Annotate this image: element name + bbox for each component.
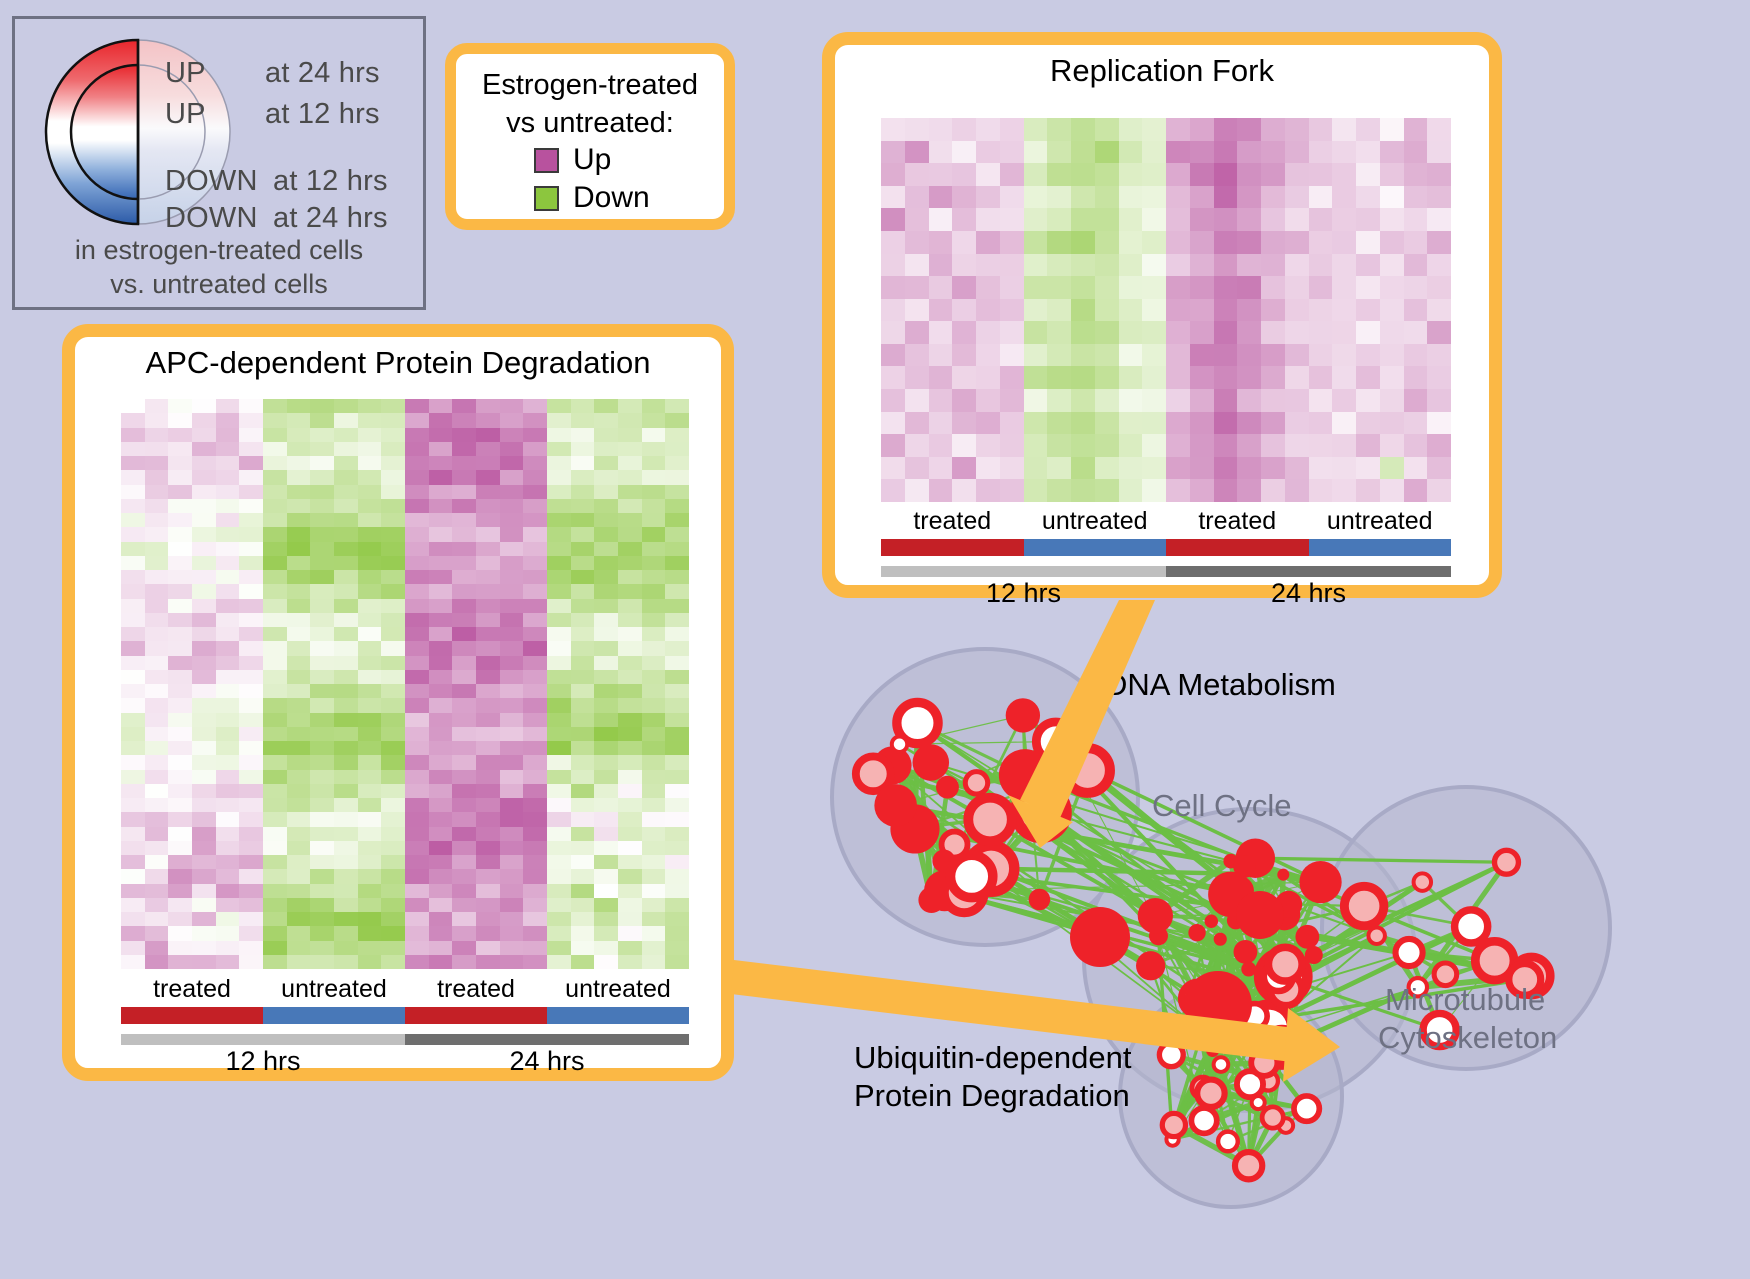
heatmap-cell [216,641,240,655]
heatmap-cell [500,399,524,413]
heatmap-cell [905,344,929,367]
heatmap-cell [405,926,429,940]
heatmap-cell [1024,276,1048,299]
heatmap-cell [1071,366,1095,389]
heatmap-cell [452,641,476,655]
heatmap-cell [452,670,476,684]
heatmap-cell [523,641,547,655]
heatmap-cell [239,527,263,541]
heatmap-cell [547,470,571,484]
heatmap-cell [192,798,216,812]
heatmap-cell [429,556,453,570]
heatmap-cell [594,442,618,456]
heatmap-cell [523,442,547,456]
network-node [1294,1096,1319,1121]
heatmap-cell [1356,479,1380,502]
heatmap-cell [381,941,405,955]
heatmap-cell [1071,276,1095,299]
heatmap-cell [192,527,216,541]
heatmap-cell [452,499,476,513]
heatmap-cell [216,684,240,698]
heatmap-cell [239,727,263,741]
heatmap-cell [263,713,287,727]
heatmap-cell [665,684,689,698]
heatmap-cell [1024,457,1048,480]
heatmap-cell [239,684,263,698]
heatmap-cell [1309,321,1333,344]
heatmap-cell [381,428,405,442]
heatmap-cell [358,855,382,869]
panel-replication-fork: Replication Fork treated untreated treat… [822,32,1502,598]
heatmap-cell [571,926,595,940]
heatmap-cell [216,542,240,556]
heatmap-cell [476,855,500,869]
heatmap-cell [1332,208,1356,231]
heatmap-cell [145,413,169,427]
heatmap-cell [665,869,689,883]
heatmap-cell [1332,299,1356,322]
heatmap-cell [1047,412,1071,435]
heatmap-cell [665,413,689,427]
heatmap-cell [1166,163,1190,186]
heatmap-cell [905,254,929,277]
ring-key-up-12-time: at 12 hrs [265,98,380,131]
network-node [1268,947,1302,981]
heatmap-cell [952,118,976,141]
heatmap-cell [287,584,311,598]
heatmap-cell [121,613,145,627]
heatmap-cell [405,556,429,570]
time-label-12hrs: 12 hrs [881,578,1166,609]
heatmap-cell [547,656,571,670]
heatmap-cell [1404,457,1428,480]
heatmap-cell [476,784,500,798]
heatmap-cell [358,442,382,456]
heatmap-cell [405,456,429,470]
heatmap-cell [263,784,287,798]
heatmap-cell [642,656,666,670]
heatmap-cell [168,570,192,584]
heatmap-cell [618,442,642,456]
heatmap-cell [168,442,192,456]
heatmap-cell [429,499,453,513]
heatmap-cell [1214,434,1238,457]
heatmap-cell [145,641,169,655]
heatmap-cell [665,955,689,969]
heatmap-cell [642,470,666,484]
heatmap-cell [476,698,500,712]
heatmap-cell [121,684,145,698]
heatmap-cell [239,413,263,427]
heatmap-cell [571,955,595,969]
heatmap-cell [263,470,287,484]
heatmap-cell [476,542,500,556]
heatmap-cell [121,698,145,712]
heatmap-cell [1095,141,1119,164]
heatmap-cell [1047,163,1071,186]
heatmap-cell [405,955,429,969]
heatmap-cell [523,770,547,784]
condition-bar-treated [405,1007,547,1024]
heatmap-cell [665,926,689,940]
heatmap-cell [665,770,689,784]
heatmap-cell [1000,231,1024,254]
time-bar-24hrs [405,1034,689,1045]
heatmap-cell [500,898,524,912]
heatmap-cell [310,442,334,456]
heatmap-cell [618,741,642,755]
heatmap-cell [263,684,287,698]
down-label: Down [573,181,650,215]
heatmap-cell [665,798,689,812]
heatmap-cell [334,641,358,655]
heatmap-cell [192,428,216,442]
heatmap-cell [263,841,287,855]
heatmap-cell [145,499,169,513]
heatmap-cell [1024,208,1048,231]
heatmap-cell [121,784,145,798]
heatmap-cell [381,499,405,513]
heatmap-cell [429,627,453,641]
heatmap-cell [310,926,334,940]
heatmap-cell [381,827,405,841]
heatmap-cell [1095,163,1119,186]
heatmap-cell [547,926,571,940]
ring-key-caption-line2: vs. untreated cells [15,267,423,301]
heatmap-cell [523,542,547,556]
heatmap-cell [523,399,547,413]
heatmap-cell [1142,412,1166,435]
heatmap-cell [287,428,311,442]
heatmap-cell [239,428,263,442]
heatmap-cell [405,613,429,627]
time-bar-12hrs [121,1034,405,1045]
heatmap-cell [168,542,192,556]
heatmap-cell [1237,208,1261,231]
heatmap-cell [192,570,216,584]
heatmap-cell [145,784,169,798]
heatmap-cell [168,513,192,527]
heatmap-cell [1261,186,1285,209]
heatmap-cell [500,428,524,442]
heatmap-cell [310,542,334,556]
heatmap-cell [381,884,405,898]
heatmap-cell [1332,344,1356,367]
heatmap-cell [145,798,169,812]
heatmap-cell [452,855,476,869]
heatmap-cell [523,869,547,883]
heatmap-cell [310,784,334,798]
heatmap-cell [334,898,358,912]
heatmap-cell [594,941,618,955]
heatmap-cell [1404,163,1428,186]
heatmap-cell [429,884,453,898]
heatmap-cell [216,456,240,470]
heatmap-cell [500,755,524,769]
heatmap-cell [1356,389,1380,412]
heatmap-cell [287,499,311,513]
up-label: Up [573,143,611,177]
heatmap-cell [263,812,287,826]
heatmap-cell [168,898,192,912]
network-node [1184,971,1252,1039]
heatmap-cell [192,399,216,413]
heatmap-cell [476,741,500,755]
heatmap-cell [1000,434,1024,457]
heatmap-cell [429,741,453,755]
heatmap-cell [476,656,500,670]
heatmap-cell [429,727,453,741]
heatmap-cell [1404,208,1428,231]
heatmap-cell [1261,208,1285,231]
heatmap-cell [594,898,618,912]
heatmap-cell [905,321,929,344]
heatmap-cell [239,941,263,955]
heatmap-cell [358,698,382,712]
heatmap-cell [1190,208,1214,231]
heatmap-cell [1332,163,1356,186]
heatmap-cell [405,741,429,755]
heatmap-cell [216,399,240,413]
heatmap-cell [145,955,169,969]
heatmap-cell [881,186,905,209]
heatmap-cell [310,841,334,855]
heatmap-cell [1071,457,1095,480]
heatmap-cell [1166,299,1190,322]
heatmap-cell [145,884,169,898]
heatmap-cell [239,627,263,641]
heatmap-cell [594,770,618,784]
cluster-label-dna-metabolism: DNA Metabolism [1105,667,1336,703]
heatmap-cell [1427,412,1451,435]
heatmap-cell [381,613,405,627]
heatmap-cell [452,570,476,584]
heatmap-cell [452,727,476,741]
heatmap-cell [976,344,1000,367]
heatmap-cell [476,442,500,456]
heatmap-cell [618,812,642,826]
heatmap-cell [929,321,953,344]
heatmap-cell [547,584,571,598]
heatmap-cell [1166,479,1190,502]
heatmap-cell [452,713,476,727]
heatmap-cell [1024,321,1048,344]
heatmap-cell [1095,231,1119,254]
heatmap-cell [571,912,595,926]
heatmap-cell [358,798,382,812]
heatmap-cell [1142,457,1166,480]
heatmap-cell [1261,479,1285,502]
heatmap-cell [1000,163,1024,186]
heatmap-cell [358,770,382,784]
heatmap-cell [145,827,169,841]
legend-item-up: Up [534,143,611,177]
heatmap-cell [381,741,405,755]
heatmap-cell [263,912,287,926]
heatmap-cell [642,713,666,727]
heatmap-cell [618,399,642,413]
heatmap-cell [310,399,334,413]
heatmap-cell [905,457,929,480]
heatmap-cell [952,208,976,231]
heatmap-cell [121,713,145,727]
heatmap-cell [1142,299,1166,322]
heatmap-cell [263,656,287,670]
heatmap-cell [216,741,240,755]
heatmap-cell [929,118,953,141]
heatmap-cell [952,254,976,277]
heatmap-cell [405,798,429,812]
heatmap-cell [239,641,263,655]
heatmap-cell [239,798,263,812]
heatmap-cell [594,869,618,883]
heatmap-cell [476,926,500,940]
heatmap-cell [1356,141,1380,164]
heatmap-cell [287,812,311,826]
heatmap-cell [310,941,334,955]
heatmap-cell [405,827,429,841]
network-node [1188,924,1205,941]
heatmap-cell [523,713,547,727]
heatmap-cell [929,479,953,502]
heatmap-cell [192,812,216,826]
replication-fork-group-labels: treated untreated treated untreated [881,507,1451,536]
heatmap-cell [952,231,976,254]
heatmap-cell [334,542,358,556]
heatmap-cell [145,684,169,698]
heatmap-cell [216,556,240,570]
heatmap-cell [429,456,453,470]
heatmap-cell [1237,163,1261,186]
heatmap-cell [547,841,571,855]
heatmap-cell [192,884,216,898]
heatmap-cell [1071,163,1095,186]
heatmap-cell [547,499,571,513]
heatmap-cell [452,827,476,841]
heatmap-cell [594,613,618,627]
heatmap-cell [571,755,595,769]
heatmap-cell [642,599,666,613]
heatmap-cell [1119,457,1143,480]
heatmap-cell [547,456,571,470]
legend-item-down: Down [534,181,650,215]
heatmap-cell [476,456,500,470]
heatmap-cell [500,656,524,670]
heatmap-cell [642,670,666,684]
heatmap-cell [1166,412,1190,435]
heatmap-cell [452,542,476,556]
heatmap-cell [405,627,429,641]
heatmap-cell [358,627,382,641]
network-node [1029,889,1051,911]
heatmap-cell [358,527,382,541]
heatmap-cell [665,670,689,684]
heatmap-cell [594,470,618,484]
heatmap-cell [1404,321,1428,344]
heatmap-cell [476,627,500,641]
heatmap-cell [192,513,216,527]
heatmap-cell [216,898,240,912]
heatmap-cell [405,770,429,784]
heatmap-cell [547,556,571,570]
heatmap-cell [1024,231,1048,254]
heatmap-cell [1119,231,1143,254]
heatmap-cell [121,513,145,527]
heatmap-cell [881,208,905,231]
updown-legend-title-line1: Estrogen-treated [456,66,724,104]
heatmap-cell [381,513,405,527]
heatmap-cell [121,812,145,826]
heatmap-cell [192,584,216,598]
heatmap-cell [145,513,169,527]
heatmap-cell [547,442,571,456]
heatmap-cell [665,470,689,484]
heatmap-cell [287,556,311,570]
network-node [1197,1080,1224,1107]
heatmap-cell [1261,321,1285,344]
heatmap-cell [523,827,547,841]
network-node [1136,951,1165,980]
heatmap-cell [500,827,524,841]
heatmap-cell [452,428,476,442]
heatmap-cell [571,827,595,841]
heatmap-cell [358,656,382,670]
heatmap-cell [381,855,405,869]
heatmap-cell [168,670,192,684]
heatmap-cell [1356,254,1380,277]
heatmap-cell [192,627,216,641]
network-node [1233,940,1257,964]
heatmap-cell [1237,186,1261,209]
heatmap-cell [358,841,382,855]
heatmap-cell [334,926,358,940]
heatmap-cell [168,912,192,926]
heatmap-cell [1380,412,1404,435]
heatmap-cell [263,428,287,442]
heatmap-cell [1119,254,1143,277]
heatmap-cell [1166,186,1190,209]
heatmap-cell [239,926,263,940]
heatmap-cell [1142,254,1166,277]
heatmap-cell [1285,344,1309,367]
heatmap-cell [1190,276,1214,299]
heatmap-cell [429,784,453,798]
heatmap-cell [310,741,334,755]
heatmap-cell [310,570,334,584]
heatmap-cell [334,812,358,826]
heatmap-cell [1309,186,1333,209]
heatmap-cell [594,599,618,613]
heatmap-cell [618,485,642,499]
heatmap-cell [1261,299,1285,322]
heatmap-cell [239,869,263,883]
heatmap-cell [1285,366,1309,389]
heatmap-cell [310,884,334,898]
ring-key-up-12-label: UP [165,98,206,131]
heatmap-cell [1214,389,1238,412]
heatmap-cell [1261,457,1285,480]
heatmap-cell [1380,163,1404,186]
heatmap-cell [121,670,145,684]
heatmap-cell [239,713,263,727]
heatmap-cell [1356,186,1380,209]
heatmap-cell [1214,118,1238,141]
heatmap-cell [1309,299,1333,322]
heatmap-cell [121,556,145,570]
heatmap-cell [310,513,334,527]
heatmap-cell [192,912,216,926]
heatmap-cell [145,812,169,826]
